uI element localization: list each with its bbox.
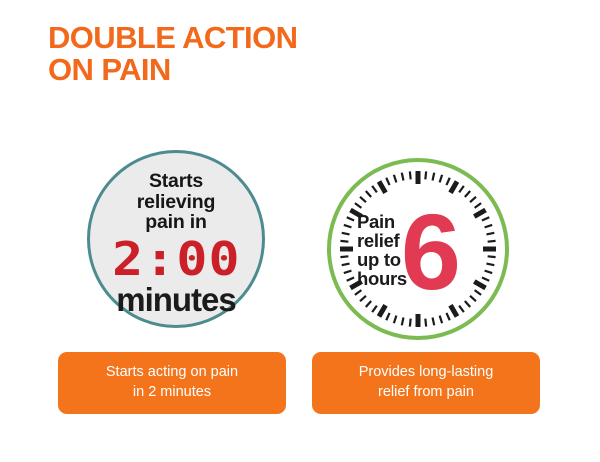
lcd-timer-value: 2:00 <box>112 236 241 282</box>
page-title: DOUBLE ACTION ON PAIN <box>48 22 468 85</box>
badges-row: Starts relieving pain in 2:00 minutes Pa… <box>0 140 600 350</box>
caption-starts-acting-button[interactable]: Starts acting on pain in 2 minutes <box>58 352 286 414</box>
badge-starts-relieving: Starts relieving pain in 2:00 minutes <box>87 150 265 328</box>
badge-lead-text: Starts relieving pain in <box>137 171 215 233</box>
clock-hours-number: 6 <box>401 208 458 297</box>
caption-long-lasting-button[interactable]: Provides long-lasting relief from pain <box>312 352 540 414</box>
badge-pain-relief-hours: Pain relief up to hours 6 <box>327 158 509 340</box>
clock-lead-text: Pain relief up to hours <box>357 213 407 288</box>
badge-unit-label: minutes <box>87 283 265 316</box>
captions-row: Starts acting on pain in 2 minutes Provi… <box>0 352 600 418</box>
clock-inner-content: Pain relief up to hours 6 <box>357 190 495 312</box>
